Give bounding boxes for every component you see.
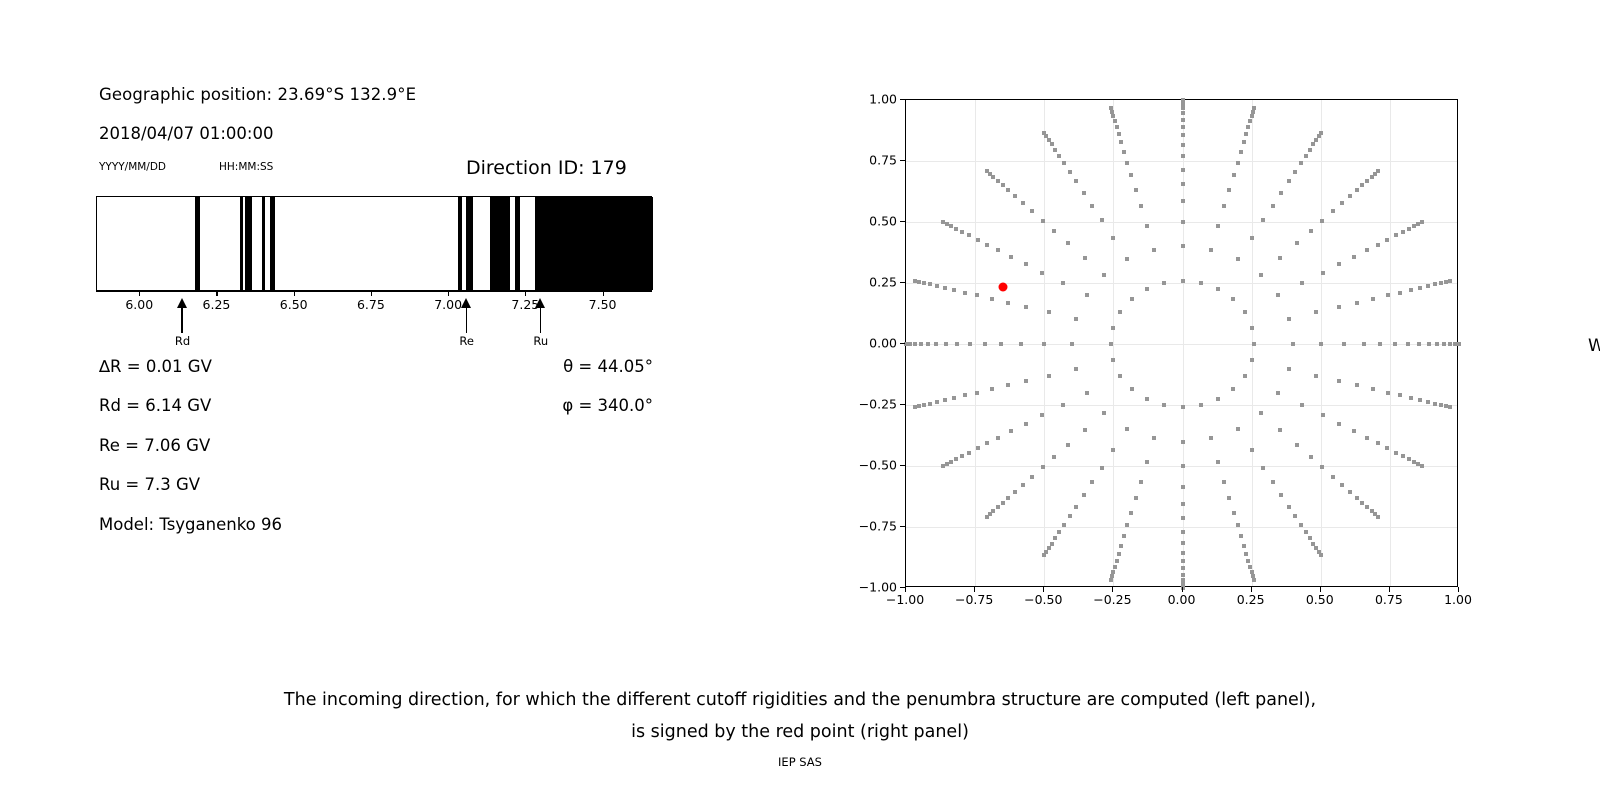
direction-point	[1074, 317, 1078, 321]
direction-point	[1181, 485, 1185, 489]
rigidity-axis-tick	[448, 291, 449, 296]
y-axis-tick-label: 0.25	[869, 275, 897, 290]
direction-id-label: Direction ID: 179	[466, 157, 627, 179]
direction-point	[952, 396, 956, 400]
direction-point	[1331, 475, 1335, 479]
direction-point	[1041, 465, 1045, 469]
direction-point	[1278, 428, 1282, 432]
direction-point	[1261, 218, 1265, 222]
direction-point	[1100, 466, 1104, 470]
direction-point	[1125, 427, 1129, 431]
direction-point	[1371, 387, 1375, 391]
rigidity-axis-tick	[603, 291, 604, 296]
direction-point	[960, 454, 964, 458]
direction-point	[1001, 183, 1005, 187]
direction-point	[1181, 464, 1185, 468]
direction-point	[1304, 154, 1308, 158]
direction-point	[1271, 204, 1275, 208]
penumbra-forbidden-band	[515, 197, 520, 290]
direction-point	[1308, 536, 1312, 540]
direction-point	[1435, 342, 1439, 346]
direction-point	[1129, 511, 1133, 515]
direction-point	[944, 342, 948, 346]
direction-point	[1376, 169, 1380, 173]
direction-point	[1371, 297, 1375, 301]
direction-point	[949, 224, 953, 228]
direction-point	[1362, 342, 1366, 346]
rigidity-axis-tick-label: 6.75	[357, 297, 385, 312]
x-axis-tick-label: −0.25	[1093, 592, 1131, 607]
direction-point	[928, 402, 932, 406]
direction-point	[1252, 342, 1256, 346]
direction-point	[913, 405, 917, 409]
direction-point	[1181, 143, 1185, 147]
direction-point	[1125, 257, 1129, 261]
direction-point	[1314, 138, 1318, 142]
direction-point	[1052, 229, 1056, 233]
direction-point	[1162, 281, 1166, 285]
direction-point	[943, 286, 947, 290]
direction-point	[1062, 161, 1066, 165]
direction-point	[1276, 293, 1280, 297]
direction-point	[968, 342, 972, 346]
direction-point	[1250, 326, 1254, 330]
direction-point	[1110, 110, 1114, 114]
direction-point	[1019, 342, 1023, 346]
direction-point	[1319, 342, 1323, 346]
direction-point	[1117, 552, 1121, 556]
direction-point	[1231, 387, 1235, 391]
direction-point	[1111, 236, 1115, 240]
direction-point	[1250, 358, 1254, 362]
direction-point	[1394, 233, 1398, 237]
direction-point	[1321, 271, 1325, 275]
direction-point	[1355, 383, 1359, 387]
direction-point	[1111, 114, 1115, 118]
direction-point	[928, 282, 932, 286]
direction-point	[1090, 480, 1094, 484]
direction-point	[1321, 413, 1325, 417]
penumbra-forbidden-band	[490, 197, 509, 290]
direction-point	[1030, 475, 1034, 479]
direction-point	[1181, 573, 1185, 577]
direction-point	[1181, 502, 1185, 506]
direction-point	[985, 169, 989, 173]
direction-point	[1222, 480, 1226, 484]
direction-point	[1209, 436, 1213, 440]
y-axis-tick	[900, 160, 905, 161]
direction-point	[1271, 480, 1275, 484]
penumbra-forbidden-band	[270, 197, 275, 290]
direction-point	[1360, 501, 1364, 505]
direction-point	[908, 342, 912, 346]
direction-point	[1252, 578, 1256, 582]
gridline-horizontal	[906, 527, 1457, 528]
direction-point	[1139, 204, 1143, 208]
direction-point	[1102, 273, 1106, 277]
direction-point	[1340, 483, 1344, 487]
direction-point	[922, 403, 926, 407]
caption-line-1: The incoming direction, for which the di…	[0, 684, 1600, 716]
direction-point	[1145, 224, 1149, 228]
direction-point	[1083, 256, 1087, 260]
direction-point	[1448, 342, 1452, 346]
direction-point	[1082, 191, 1086, 195]
direction-point	[1130, 387, 1134, 391]
direction-point	[1231, 297, 1235, 301]
direction-point	[1222, 204, 1226, 208]
direction-point	[1113, 565, 1117, 569]
direction-point	[1394, 451, 1398, 455]
direction-point	[1102, 411, 1106, 415]
direction-point	[1181, 133, 1185, 137]
direction-point	[954, 457, 958, 461]
direction-point	[1111, 326, 1115, 330]
direction-point	[1417, 342, 1421, 346]
gridline-horizontal	[906, 283, 1457, 284]
direction-point	[1074, 179, 1078, 183]
direction-point	[945, 222, 949, 226]
direction-point	[1401, 454, 1405, 458]
direction-point	[1181, 551, 1185, 555]
x-axis-tick-label: 0.50	[1306, 592, 1334, 607]
direction-point	[1409, 396, 1413, 400]
direction-point	[1181, 279, 1185, 283]
direction-point	[1299, 161, 1303, 165]
direction-point	[1308, 148, 1312, 152]
direction-point	[1070, 342, 1074, 346]
direction-point	[1331, 209, 1335, 213]
direction-point	[1024, 422, 1028, 426]
direction-point	[960, 230, 964, 234]
direction-point	[967, 451, 971, 455]
direction-point	[967, 233, 971, 237]
direction-point	[1024, 262, 1028, 266]
direction-point	[1457, 342, 1461, 346]
direction-point	[1115, 559, 1119, 563]
direction-point	[1181, 111, 1185, 115]
direction-point	[1216, 287, 1220, 291]
figure-caption: The incoming direction, for which the di…	[0, 684, 1600, 748]
direction-point	[1365, 436, 1369, 440]
direction-point	[975, 293, 979, 297]
direction-point	[1130, 297, 1134, 301]
direction-point	[1100, 218, 1104, 222]
y-axis-tick	[900, 343, 905, 344]
gridline-vertical	[975, 100, 976, 586]
direction-point	[1042, 131, 1046, 135]
direction-point	[1433, 282, 1437, 286]
direction-point	[1337, 422, 1341, 426]
direction-point	[1083, 428, 1087, 432]
parameter-rd: Rd = 6.14 GV	[99, 396, 211, 415]
direction-point	[1242, 544, 1246, 548]
direction-point	[1311, 142, 1315, 146]
direction-point	[1181, 102, 1185, 106]
rigidity-axis-tick	[525, 291, 526, 296]
left-panel: Geographic position: 23.69°S 132.9°E 201…	[0, 0, 760, 660]
direction-point	[1057, 154, 1061, 158]
x-axis-tick-label: 0.00	[1168, 592, 1196, 607]
direction-point	[926, 342, 930, 346]
direction-point	[1376, 441, 1380, 445]
direction-point	[1118, 310, 1122, 314]
footer-credit: IEP SAS	[0, 755, 1600, 769]
direction-point	[1311, 542, 1315, 546]
direction-point	[934, 342, 938, 346]
direction-point	[1376, 515, 1380, 519]
y-axis-tick	[900, 221, 905, 222]
direction-point	[1181, 199, 1185, 203]
direction-point	[1309, 229, 1313, 233]
direction-point	[1001, 501, 1005, 505]
direction-point	[1386, 391, 1390, 395]
direction-point	[983, 342, 987, 346]
direction-point	[1050, 542, 1054, 546]
direction-point	[1337, 305, 1341, 309]
direction-point	[1278, 256, 1282, 260]
direction-point	[1420, 220, 1424, 224]
direction-point	[922, 281, 926, 285]
direction-point	[1216, 224, 1220, 228]
direction-point	[985, 515, 989, 519]
penumbra-forbidden-band	[535, 197, 653, 290]
direction-point	[1024, 379, 1028, 383]
rigidity-axis-tick	[139, 291, 140, 296]
direction-point	[1342, 342, 1346, 346]
direction-point	[1418, 398, 1422, 402]
direction-point	[1365, 248, 1369, 252]
direction-point	[1181, 516, 1185, 520]
direction-point	[1111, 358, 1115, 362]
rigidity-axis-tick-label: 6.25	[203, 297, 231, 312]
direction-point	[1181, 566, 1185, 570]
direction-point	[1309, 455, 1313, 459]
direction-point	[1040, 413, 1044, 417]
direction-point	[1293, 170, 1297, 174]
direction-point	[1246, 559, 1250, 563]
penumbra-forbidden-band	[262, 197, 265, 290]
direction-point	[1242, 140, 1246, 144]
direction-point	[1248, 119, 1252, 123]
x-axis-tick-label: −0.75	[955, 592, 993, 607]
x-axis-tick-label: −1.00	[886, 592, 924, 607]
direction-point	[935, 400, 939, 404]
penumbra-bar	[96, 196, 652, 291]
direction-point	[996, 179, 1000, 183]
direction-point	[991, 175, 995, 179]
direction-point	[1041, 219, 1045, 223]
direction-point	[985, 243, 989, 247]
selected-direction-point	[998, 282, 1007, 291]
direction-point	[1040, 271, 1044, 275]
gridline-horizontal	[906, 344, 1457, 345]
geographic-position-label: Geographic position: 23.69°S 132.9°E	[99, 85, 416, 104]
direction-point	[1293, 514, 1297, 518]
direction-point	[935, 284, 939, 288]
direction-point	[1181, 168, 1185, 172]
y-axis-tick-label: −0.25	[859, 397, 897, 412]
direction-point	[1181, 244, 1185, 248]
direction-point	[1066, 241, 1070, 245]
direction-point	[1279, 191, 1283, 195]
direction-point	[999, 342, 1003, 346]
gridline-vertical	[1390, 100, 1391, 586]
rigidity-marker-label: Re	[456, 334, 478, 348]
direction-point	[1279, 493, 1283, 497]
direction-point	[1295, 443, 1299, 447]
y-axis-tick	[900, 282, 905, 283]
direction-point	[1352, 429, 1356, 433]
direction-point	[1442, 342, 1446, 346]
direction-point	[1314, 310, 1318, 314]
direction-point	[1227, 188, 1231, 192]
direction-point	[941, 464, 945, 468]
compass-west-label: W	[1588, 336, 1600, 356]
direction-point	[1090, 204, 1094, 208]
direction-point	[1427, 342, 1431, 346]
datetime-label: 2018/04/07 01:00:00	[99, 124, 273, 143]
direction-point	[1355, 301, 1359, 305]
direction-point	[1062, 523, 1066, 527]
direction-point	[1378, 342, 1382, 346]
direction-point	[1360, 183, 1364, 187]
direction-point	[955, 342, 959, 346]
direction-point	[952, 288, 956, 292]
direction-point	[1352, 255, 1356, 259]
direction-point	[1024, 305, 1028, 309]
arrow-shaft	[181, 306, 182, 333]
date-format-hint: YYYY/MM/DD	[99, 161, 166, 173]
time-format-hint: HH:MM:SS	[219, 161, 273, 173]
gridline-horizontal	[906, 161, 1457, 162]
y-axis-tick	[900, 99, 905, 100]
direction-point	[1181, 578, 1185, 582]
direction-point	[991, 509, 995, 513]
direction-point	[1181, 154, 1185, 158]
direction-point	[1125, 523, 1129, 527]
direction-point	[1199, 403, 1203, 407]
direction-point	[1013, 490, 1017, 494]
rigidity-axis-tick-label: 7.50	[589, 297, 617, 312]
direction-point	[963, 291, 967, 295]
caption-line-2: is signed by the red point (right panel)	[0, 716, 1600, 748]
direction-point	[917, 404, 921, 408]
y-axis-tick-label: −0.75	[859, 519, 897, 534]
direction-point	[1407, 457, 1411, 461]
direction-point	[1061, 403, 1065, 407]
penumbra-forbidden-band	[466, 197, 473, 290]
direction-point	[975, 391, 979, 395]
direction-point	[917, 280, 921, 284]
direction-point	[1074, 505, 1078, 509]
direction-point	[1236, 161, 1240, 165]
direction-point	[1050, 142, 1054, 146]
direction-point	[1082, 493, 1086, 497]
y-axis-tick	[900, 465, 905, 466]
direction-point	[985, 441, 989, 445]
direction-point	[919, 342, 923, 346]
direction-point	[1030, 209, 1034, 213]
direction-point	[949, 460, 953, 464]
x-axis-tick-label: 0.25	[1237, 592, 1265, 607]
direction-point	[1337, 379, 1341, 383]
rigidity-marker-label: Ru	[530, 334, 552, 348]
direction-point	[1340, 201, 1344, 205]
direction-point	[1109, 342, 1113, 346]
parameter-re: Re = 7.06 GV	[99, 436, 210, 455]
direction-point	[1181, 541, 1185, 545]
direction-point	[1125, 161, 1129, 165]
parameter-ru: Ru = 7.3 GV	[99, 475, 200, 494]
direction-point	[1337, 262, 1341, 266]
direction-point	[1320, 465, 1324, 469]
direction-point	[913, 279, 917, 283]
rigidity-marker-label: Rd	[171, 334, 193, 348]
direction-point	[1420, 464, 1424, 468]
direction-point	[1426, 284, 1430, 288]
rigidity-axis-tick	[371, 291, 372, 296]
direction-point	[1287, 505, 1291, 509]
direction-point	[1300, 281, 1304, 285]
direction-point	[1152, 436, 1156, 440]
direction-point	[1052, 455, 1056, 459]
penumbra-forbidden-band	[245, 197, 252, 290]
direction-point	[1365, 179, 1369, 183]
direction-point	[941, 220, 945, 224]
direction-point	[1006, 188, 1010, 192]
direction-point	[1259, 411, 1263, 415]
direction-point	[1111, 448, 1115, 452]
direction-point	[1259, 273, 1263, 277]
direction-point	[1376, 243, 1380, 247]
direction-point	[1181, 559, 1185, 563]
arrow-shaft	[540, 306, 541, 333]
direction-point	[1085, 391, 1089, 395]
direction-point	[954, 227, 958, 231]
direction-point	[945, 462, 949, 466]
direction-point	[1009, 429, 1013, 433]
direction-point	[1433, 402, 1437, 406]
direction-point	[1074, 367, 1078, 371]
direction-point	[1047, 138, 1051, 142]
direction-point	[990, 387, 994, 391]
direction-point	[1287, 179, 1291, 183]
x-axis-tick-label: 1.00	[1444, 592, 1472, 607]
direction-point	[1398, 291, 1402, 295]
direction-point	[1385, 238, 1389, 242]
direction-point	[1348, 194, 1352, 198]
direction-point	[1244, 552, 1248, 556]
direction-point	[1068, 170, 1072, 174]
direction-point	[996, 505, 1000, 509]
y-axis-tick	[900, 404, 905, 405]
direction-point	[1409, 288, 1413, 292]
direction-point	[1134, 496, 1138, 500]
direction-point	[1243, 374, 1247, 378]
penumbra-forbidden-band	[458, 197, 462, 290]
direction-point	[1181, 405, 1185, 409]
direction-point	[1057, 530, 1061, 534]
direction-point	[1250, 448, 1254, 452]
direction-point	[1439, 281, 1443, 285]
direction-point	[1181, 98, 1185, 102]
direction-point	[1248, 565, 1252, 569]
direction-point	[1129, 173, 1133, 177]
direction-point	[1181, 440, 1185, 444]
direction-point	[1152, 248, 1156, 252]
rigidity-axis-tick-label: 7.00	[434, 297, 462, 312]
